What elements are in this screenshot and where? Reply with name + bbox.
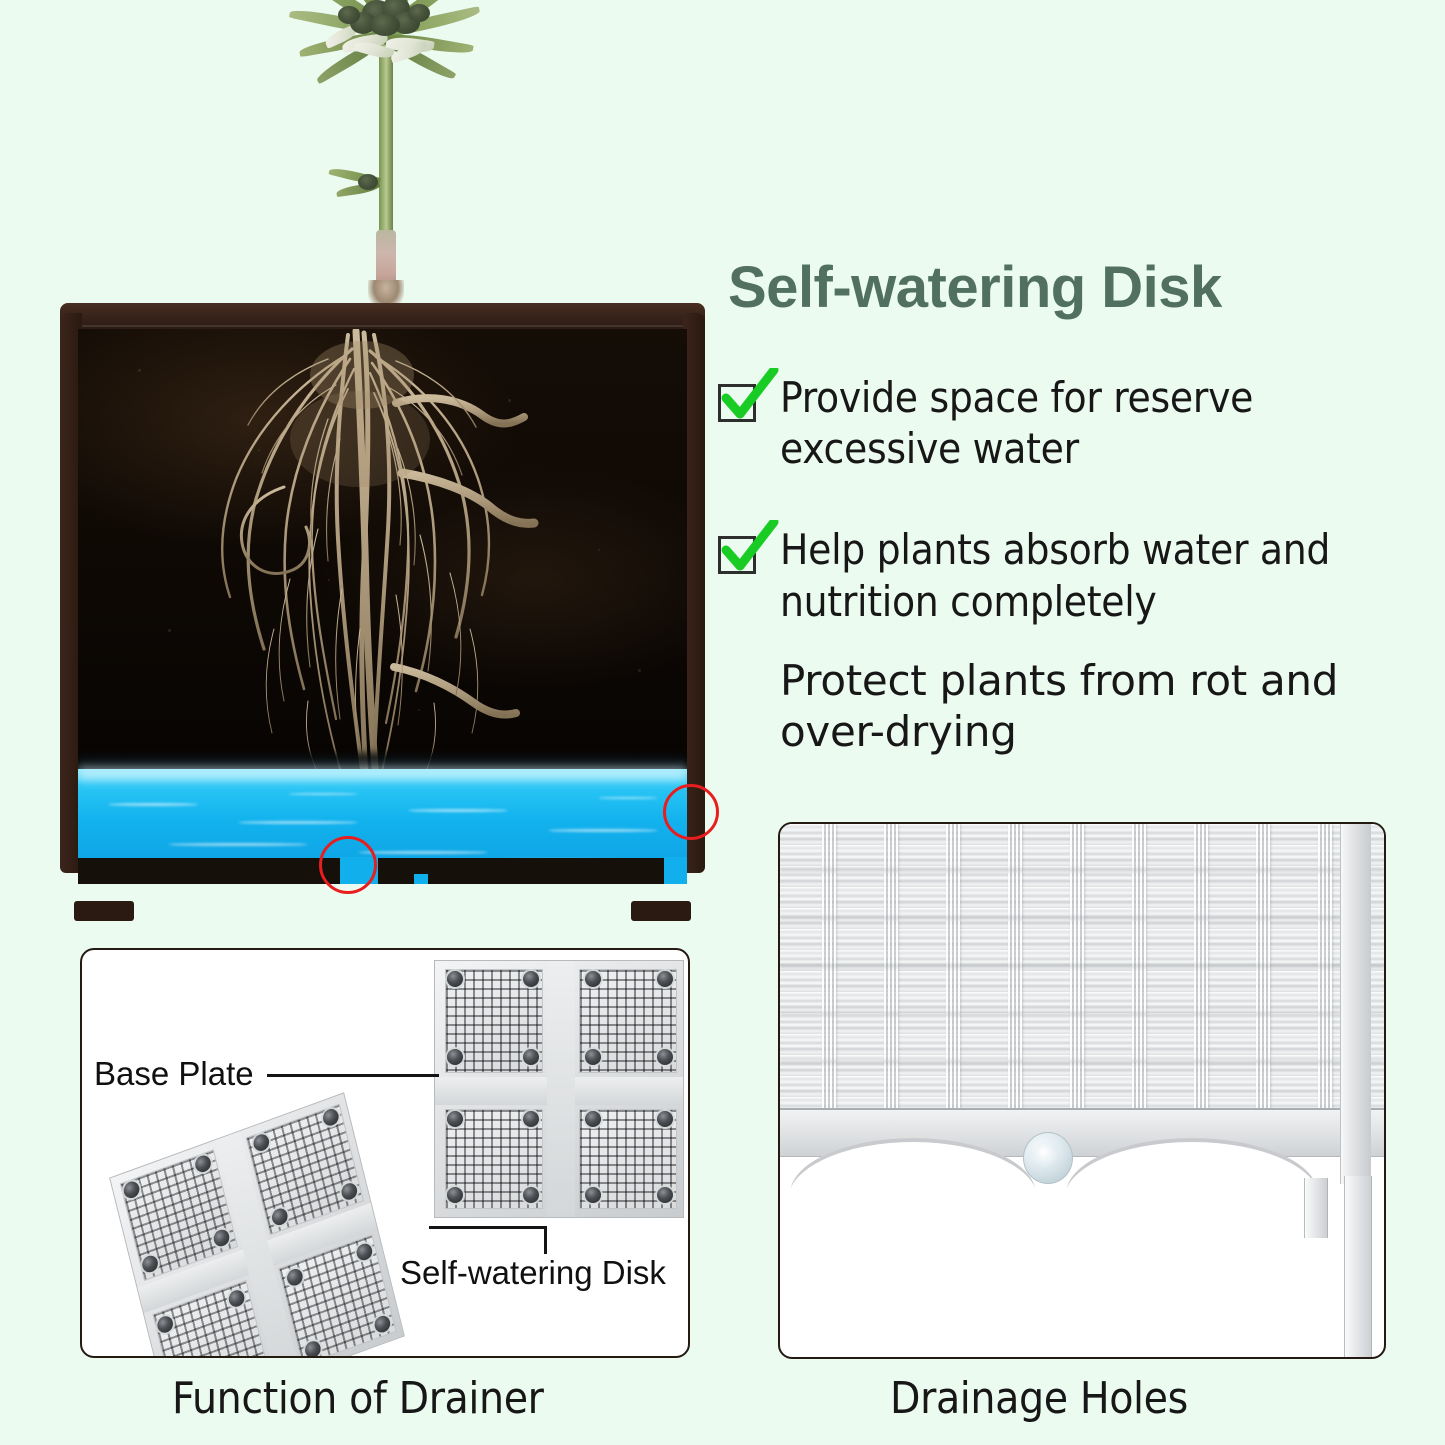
pot-cross-section-photo [60, 303, 705, 911]
annotation-circle-right [663, 784, 719, 840]
self-watering-disk-image [109, 1092, 405, 1358]
pot-foot-right [631, 901, 691, 921]
rattan-weave-texture [780, 824, 1384, 1124]
plant-bud [370, 14, 400, 36]
checkmark-icon [720, 368, 780, 424]
pot-floor [78, 858, 687, 884]
pot-foot-left [74, 901, 134, 921]
caption-drainage-holes: Drainage Holes [890, 1373, 1188, 1424]
leader-line-self-watering-disk-drop [544, 1226, 547, 1254]
plant-bud [358, 174, 378, 190]
drainage-hole-plug [1023, 1132, 1073, 1184]
page-title: Self-watering Disk [728, 258, 1388, 319]
extra-note-text: Protect plants from rot and over-drying [780, 655, 1430, 757]
base-plate-image [434, 960, 684, 1218]
list-item: Provide space for reserve excessive wate… [718, 372, 1418, 474]
pot-interior [78, 329, 687, 884]
feature-text: Provide space for reserve excessive wate… [780, 372, 1418, 474]
leader-line-self-watering-disk [429, 1226, 547, 1229]
feature-list: Provide space for reserve excessive wate… [718, 372, 1418, 665]
panel-function-of-drainer: Base Plate Self-watering Disk [80, 948, 690, 1358]
leader-line-base-plate [267, 1074, 439, 1077]
checkmark-icon [720, 520, 780, 576]
soil-layer [78, 329, 687, 784]
drain-notch-far-right [664, 857, 687, 884]
annotation-circle-bottom [319, 836, 377, 894]
infographic-canvas: Self-watering Disk Provide space for res… [0, 0, 1445, 1445]
list-item: Help plants absorb water and nutrition c… [718, 524, 1418, 626]
planter-leg-right [1344, 1176, 1372, 1359]
planter-corner-post [1340, 824, 1371, 1184]
feature-text: Help plants absorb water and nutrition c… [780, 524, 1418, 626]
drain-notch-right [414, 874, 428, 884]
plant-bud [408, 4, 430, 22]
caption-function-of-drainer: Function of Drainer [172, 1373, 544, 1424]
panel-drainage-holes [778, 822, 1386, 1359]
plant-illustration [250, 0, 540, 322]
label-base-plate: Base Plate [94, 1055, 254, 1093]
planter-leg-inner [1304, 1178, 1328, 1238]
plant-bud [338, 6, 360, 24]
label-self-watering-disk: Self-watering Disk [400, 1254, 666, 1292]
pot-rim [60, 303, 705, 331]
